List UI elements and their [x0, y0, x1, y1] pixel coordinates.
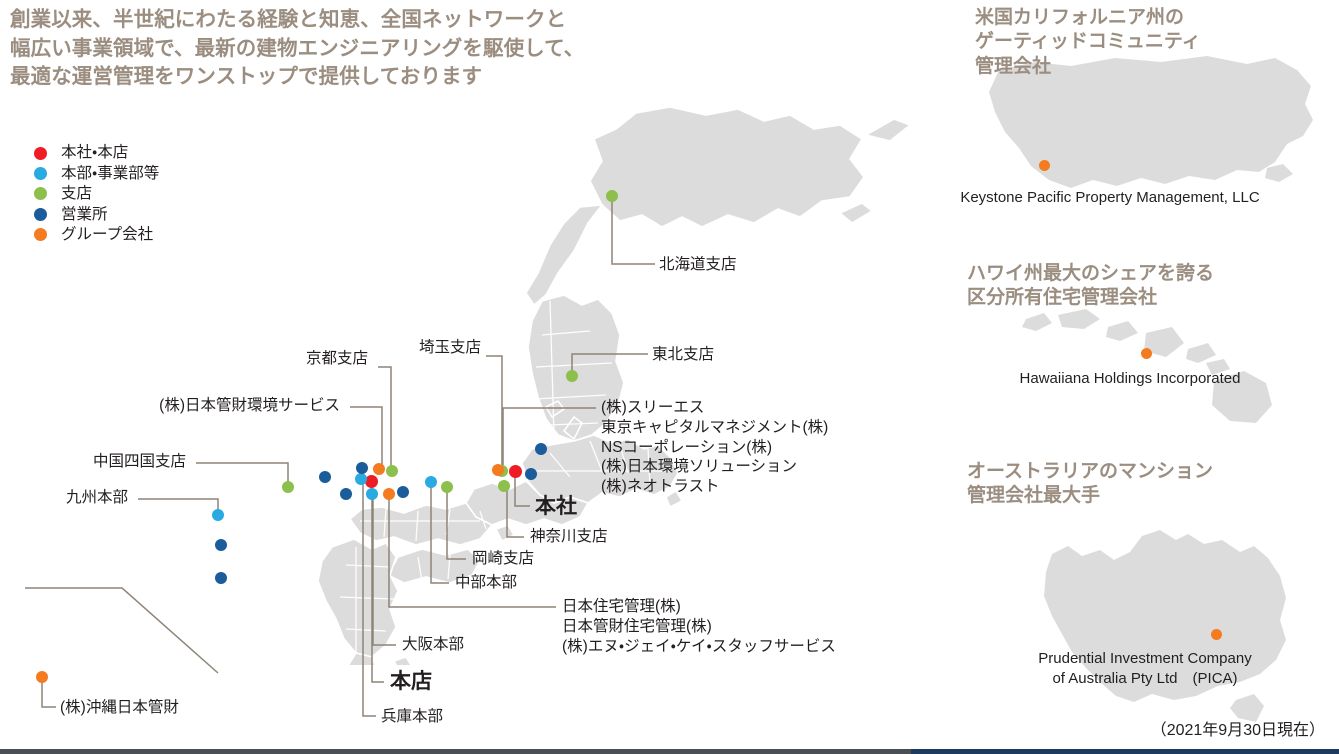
overseas-heading-australia: オーストラリアのマンション 管理会社最大手 — [967, 460, 1327, 509]
slide-canvas: 創業以来、半世紀にわたる経験と知恵、全国ネットワークと 幅広い事業領域で、最新の… — [0, 0, 1339, 754]
tokyo-group-list: (株)スリーエス 東京キャピタルマネジメント(株) NSコーポレーション(株) … — [601, 398, 828, 497]
tokyo-group-item: (株)スリーエス — [601, 398, 828, 418]
callout-tohoku: 東北支店 — [652, 345, 714, 365]
site-dot-kyushu-sales-2 — [215, 572, 227, 584]
site-dot-chugoku-sales-2 — [340, 488, 352, 500]
callout-kyushu-honbu: 九州本部 — [48, 488, 128, 508]
site-dot-kinki-sales-1 — [356, 462, 368, 474]
site-dot-tohoku — [566, 370, 578, 382]
site-dot-hawaii — [1141, 348, 1152, 359]
callout-hyogo: 兵庫本部 — [381, 707, 443, 727]
tokyo-group-item: (株)日本環境ソリューション — [601, 457, 828, 477]
site-dot-kyoto — [386, 465, 398, 477]
bottom-bar-gray-segment — [0, 749, 911, 754]
site-dot-kansai-group — [373, 463, 385, 475]
callout-nihon-kanzai-kankyo: (株)日本管財環境サービス — [118, 396, 340, 416]
site-dot-okinawa — [36, 671, 48, 683]
callout-honsha: 本社 — [535, 494, 577, 521]
as-of-date: （2021年9月30日現在） — [1151, 716, 1325, 740]
overseas-caption-usa: Keystone Pacific Property Management, LL… — [900, 188, 1320, 208]
tokyo-group-item: 東京キャピタルマネジメント(株) — [601, 418, 828, 438]
site-dot-osaka — [366, 488, 378, 500]
site-dot-kyushu — [212, 509, 224, 521]
site-dot-hokkaido — [606, 190, 618, 202]
overseas-caption-hawaii: Hawaiiana Holdings Incorporated — [930, 369, 1330, 389]
bottom-bar-navy-segment — [911, 749, 1339, 754]
callout-honten: 本店 — [390, 669, 432, 696]
site-dot-kanto-north — [535, 443, 547, 455]
site-dot-chugoku-shikoku — [282, 481, 294, 493]
site-dot-tokyo-sales — [525, 468, 537, 480]
site-dot-kanagawa — [498, 480, 510, 492]
site-dot-chugoku-sales-1 — [319, 471, 331, 483]
callout-chubu-honbu: 中部本部 — [455, 573, 517, 593]
overseas-caption-australia: Prudential Investment Company of Austral… — [960, 649, 1330, 689]
bottom-bar — [0, 749, 1339, 754]
site-dot-kinki-sales-2 — [397, 486, 409, 498]
osaka-group-list: 日本住宅管理(株) 日本管財住宅管理(株) (株)エヌ・ジェイ・ケイ・スタッフサ… — [562, 597, 836, 656]
callout-okinawa: (株)沖縄日本管財 — [60, 698, 179, 718]
site-dot-australia-pica — [1211, 629, 1222, 640]
site-dot-tokyo-group — [492, 464, 504, 476]
overseas-heading-usa: 米国カリフォルニア州の ゲーティッドコミュニティ 管理会社 — [975, 6, 1320, 79]
site-dot-kyushu-sales-1 — [215, 539, 227, 551]
site-dot-osaka-group — [383, 488, 395, 500]
site-dot-chubu — [425, 476, 437, 488]
site-dot-okazaki — [441, 481, 453, 493]
callout-kyoto: 京都支店 — [290, 349, 368, 369]
site-dot-usa-keystone — [1039, 160, 1050, 171]
callout-okazaki: 岡崎支店 — [472, 549, 534, 569]
callout-kanagawa: 神奈川支店 — [530, 527, 608, 547]
overseas-heading-hawaii: ハワイ州最大のシェアを誇る 区分所有住宅管理会社 — [967, 262, 1317, 311]
osaka-group-item: 日本住宅管理(株) — [562, 597, 836, 617]
tokyo-group-item: (株)ネオトラスト — [601, 477, 828, 497]
osaka-group-item: (株)エヌ・ジェイ・ケイ・スタッフサービス — [562, 637, 836, 657]
callout-chugoku-shikoku: 中国四国支店 — [56, 452, 186, 472]
site-dot-honsha — [509, 465, 522, 478]
tokyo-group-item: NSコーポレーション(株) — [601, 438, 828, 458]
site-dot-hyogo — [355, 473, 367, 485]
osaka-group-item: 日本管財住宅管理(株) — [562, 617, 836, 637]
callout-hokkaido: 北海道支店 — [659, 255, 737, 275]
callout-saitama: 埼玉支店 — [405, 338, 481, 358]
callout-osaka-honbu: 大阪本部 — [402, 635, 464, 655]
